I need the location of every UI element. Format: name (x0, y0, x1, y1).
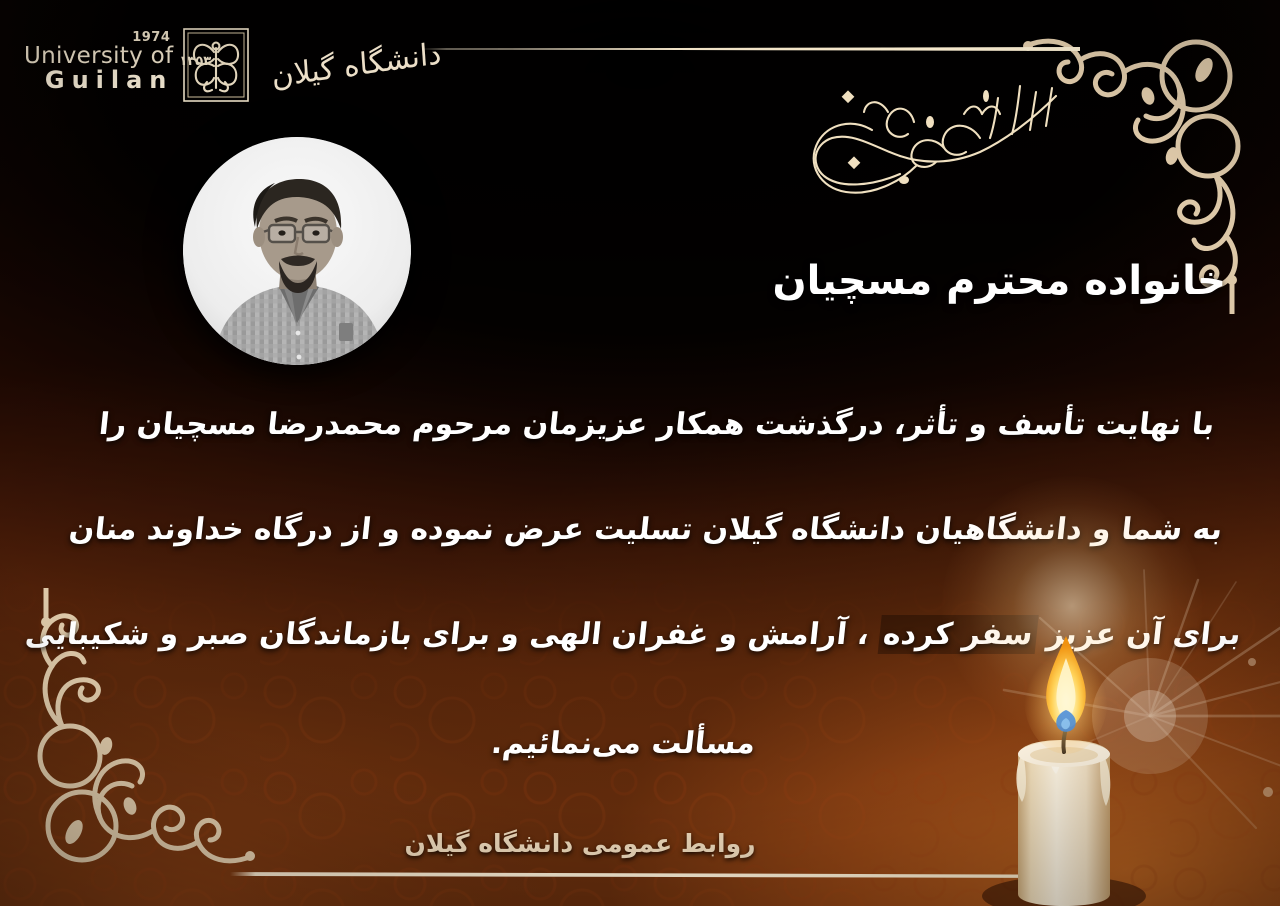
page-title: خانواده محترم مسچیان (772, 258, 1226, 304)
logo-name-line1: University of (24, 44, 173, 68)
body-line-1: با نهایت تأسف و تأثر، درگذشت همکار عزیزم… (45, 372, 1268, 477)
body-line-2: به شما و دانشگاهیان دانشگاه گیلان تسلیت … (34, 477, 1257, 582)
logo-year-persian: ۱۳۵۳ (179, 54, 211, 69)
guilan-butterfly-emblem-icon: ۱۳۵۳ (181, 26, 251, 104)
logo-year-gregorian: 1974 (132, 31, 170, 45)
signature-line: روابط عمومی دانشگاه گیلان (0, 829, 1280, 858)
condolence-card: 1974 University of Guilan ۱۳۵۳ (0, 0, 1280, 906)
logo-english-name: 1974 University of Guilan (24, 36, 173, 93)
body-line-3-after: ، آرامش و غفران الهی و برای بازماندگان ص… (24, 617, 882, 652)
university-logo: 1974 University of Guilan ۱۳۵۳ (24, 26, 442, 104)
logo-persian-name: دانشگاه گیلان (271, 36, 443, 95)
deceased-portrait-photo (183, 137, 411, 365)
logo-name-line2: Guilan (24, 68, 173, 93)
lit-candle-icon (956, 606, 1206, 906)
